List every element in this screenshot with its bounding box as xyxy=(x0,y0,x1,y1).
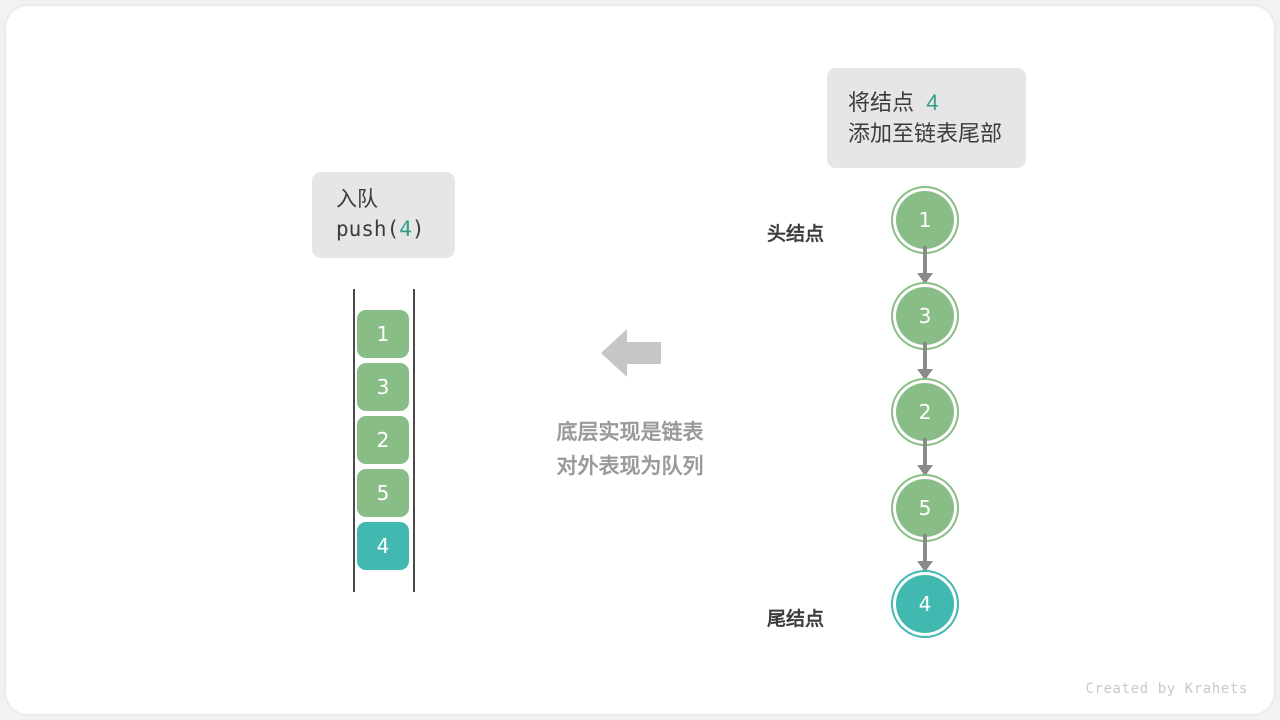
queue-rail-right xyxy=(413,289,415,592)
linked-list-arrowhead-icon xyxy=(917,465,933,476)
linked-list-arrowhead-icon xyxy=(917,273,933,284)
callout-append: 将结点 4 添加至链表尾部 xyxy=(827,68,1026,168)
tail-node-label: 尾结点 xyxy=(709,604,824,631)
left-arrow-icon xyxy=(601,324,661,382)
append-prefix: 将结点 xyxy=(848,90,914,115)
linked-list-arrowhead-icon xyxy=(917,369,933,380)
linked-list-node: 1 xyxy=(896,191,954,249)
push-suffix: ) xyxy=(412,217,425,241)
queue-cell: 2 xyxy=(357,416,409,464)
linked-list-node: 4 xyxy=(896,575,954,633)
linked-list-node: 5 xyxy=(896,479,954,537)
queue-rail-left xyxy=(353,289,355,592)
callout-push-line2: push(4) xyxy=(336,215,431,245)
head-node-label: 头结点 xyxy=(709,219,824,246)
figure-canvas: 入队 push(4) 将结点 4 添加至链表尾部 13254 底层实现是链表 对… xyxy=(0,0,1280,720)
callout-append-line1: 将结点 4 xyxy=(848,87,1005,118)
queue-cell: 5 xyxy=(357,469,409,517)
queue-cell: 3 xyxy=(357,363,409,411)
linked-list-node: 3 xyxy=(896,287,954,345)
queue-cell: 1 xyxy=(357,310,409,358)
push-prefix: push( xyxy=(336,217,399,241)
callout-push: 入队 push(4) xyxy=(312,172,455,258)
queue-cell-list: 13254 xyxy=(357,310,409,575)
linked-list-arrowhead-icon xyxy=(917,561,933,572)
linked-list-node: 2 xyxy=(896,383,954,441)
figure-card: 入队 push(4) 将结点 4 添加至链表尾部 13254 底层实现是链表 对… xyxy=(6,6,1274,714)
queue-cell: 4 xyxy=(357,522,409,570)
middle-caption: 底层实现是链表 对外表现为队列 xyxy=(476,416,784,484)
append-value: 4 xyxy=(926,90,938,115)
callout-push-line1: 入队 xyxy=(336,185,431,215)
credit-text: Created by Krahets xyxy=(1085,681,1248,697)
linked-list: 13254 xyxy=(866,191,986,661)
push-value: 4 xyxy=(399,217,412,241)
middle-caption-line2: 对外表现为队列 xyxy=(476,450,784,484)
callout-append-line2: 添加至链表尾部 xyxy=(848,118,1005,149)
middle-caption-line1: 底层实现是链表 xyxy=(476,416,784,450)
